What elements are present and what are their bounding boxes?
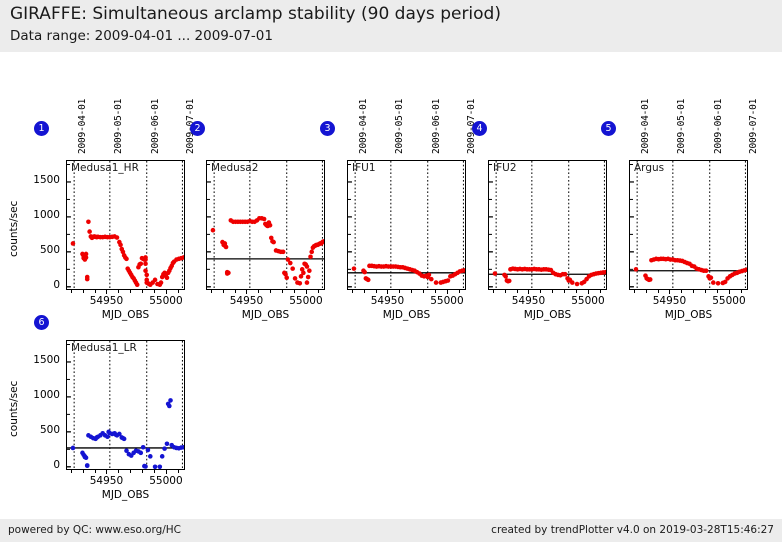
- plot-panel-4[interactable]: [488, 160, 607, 290]
- x-axis-label: MJD_OBS: [488, 309, 607, 321]
- date-tick-label: 2009-04-01: [358, 99, 369, 154]
- y-tick-label: 1000: [18, 209, 60, 221]
- x-axis-label: MJD_OBS: [66, 309, 185, 321]
- x-minor-tick: [223, 290, 224, 293]
- date-tick-label: 2009-06-01: [713, 99, 724, 154]
- x-minor-tick: [95, 470, 96, 473]
- x-minor-tick: [142, 290, 143, 293]
- x-tick-label: 54950: [506, 295, 550, 307]
- x-minor-tick: [505, 290, 506, 293]
- panel-title-1: Medusa1_HR: [71, 162, 139, 174]
- y-tick-label: 0: [18, 279, 60, 291]
- panel-title-6: Medusa1_LR: [71, 342, 137, 354]
- x-minor-tick: [528, 290, 529, 293]
- x-minor-tick: [246, 290, 247, 293]
- y-axis-label: counts/sec: [8, 381, 20, 437]
- date-tick-label: 2009-06-01: [150, 99, 161, 154]
- x-tick-label: 54950: [84, 475, 128, 487]
- page-subtitle: Data range: 2009-04-01 ... 2009-07-01: [10, 28, 273, 44]
- date-tick-label: 2009-04-01: [640, 99, 651, 154]
- x-tick-label: 54950: [647, 295, 691, 307]
- date-tick-label: 2009-05-01: [676, 99, 687, 154]
- x-axis-label: MJD_OBS: [347, 309, 466, 321]
- x-minor-tick: [294, 290, 295, 293]
- panel-badge-5: 5: [601, 121, 616, 136]
- x-minor-tick: [130, 290, 131, 293]
- footer-bar: powered by QC: www.eso.org/HC created by…: [0, 519, 782, 542]
- x-minor-tick: [493, 290, 494, 293]
- x-minor-tick: [106, 290, 107, 293]
- x-minor-tick: [540, 290, 541, 293]
- x-tick-label: 55000: [284, 295, 328, 307]
- x-tick-label: 55000: [144, 295, 188, 307]
- x-minor-tick: [178, 470, 179, 473]
- y-tick-label: 500: [18, 424, 60, 436]
- x-minor-tick: [600, 290, 601, 293]
- x-minor-tick: [552, 290, 553, 293]
- y-tick-label: 1000: [18, 389, 60, 401]
- x-minor-tick: [435, 290, 436, 293]
- y-tick-label: 1500: [18, 174, 60, 186]
- x-minor-tick: [658, 290, 659, 293]
- x-minor-tick: [681, 290, 682, 293]
- x-minor-tick: [564, 290, 565, 293]
- x-minor-tick: [166, 470, 167, 473]
- x-tick-label: 55000: [425, 295, 469, 307]
- date-tick-label: 2009-05-01: [394, 99, 405, 154]
- x-tick-label: 55000: [707, 295, 751, 307]
- x-tick-label: 55000: [566, 295, 610, 307]
- panel-title-3: IFU1: [352, 162, 376, 174]
- panel-badge-2: 2: [190, 121, 205, 136]
- x-minor-tick: [106, 470, 107, 473]
- panel-title-2: Medusa2: [211, 162, 258, 174]
- x-axis-label: MJD_OBS: [206, 309, 325, 321]
- panel-badge-4: 4: [472, 121, 487, 136]
- x-minor-tick: [387, 290, 388, 293]
- x-minor-tick: [142, 470, 143, 473]
- x-tick-label: 54950: [365, 295, 409, 307]
- panel-badge-6: 6: [34, 315, 49, 330]
- x-minor-tick: [411, 290, 412, 293]
- x-minor-tick: [741, 290, 742, 293]
- x-tick-label: 54950: [84, 295, 128, 307]
- plot-panel-5[interactable]: [629, 160, 748, 290]
- x-minor-tick: [118, 470, 119, 473]
- x-minor-tick: [83, 470, 84, 473]
- footer-credit-left: powered by QC: www.eso.org/HC: [8, 524, 181, 536]
- y-tick-label: 1500: [18, 354, 60, 366]
- x-minor-tick: [270, 290, 271, 293]
- x-minor-tick: [130, 470, 131, 473]
- x-axis-label: MJD_OBS: [66, 489, 185, 501]
- x-axis-label: MJD_OBS: [629, 309, 748, 321]
- x-minor-tick: [154, 290, 155, 293]
- y-tick-label: 500: [18, 244, 60, 256]
- x-minor-tick: [166, 290, 167, 293]
- plot-panel-1[interactable]: [66, 160, 185, 290]
- plot-panel-2[interactable]: [206, 160, 325, 290]
- x-minor-tick: [634, 290, 635, 293]
- date-tick-label: 2009-05-01: [113, 99, 124, 154]
- x-minor-tick: [318, 290, 319, 293]
- x-minor-tick: [154, 470, 155, 473]
- x-minor-tick: [705, 290, 706, 293]
- x-minor-tick: [71, 470, 72, 473]
- x-minor-tick: [83, 290, 84, 293]
- x-minor-tick: [447, 290, 448, 293]
- x-minor-tick: [423, 290, 424, 293]
- y-tick-label: 0: [18, 459, 60, 471]
- x-minor-tick: [729, 290, 730, 293]
- x-minor-tick: [118, 290, 119, 293]
- x-minor-tick: [364, 290, 365, 293]
- plot-panel-6[interactable]: [66, 340, 185, 470]
- panel-title-5: Argus: [634, 162, 664, 174]
- x-tick-label: 55000: [144, 475, 188, 487]
- y-axis-label: counts/sec: [8, 201, 20, 257]
- x-minor-tick: [576, 290, 577, 293]
- x-minor-tick: [646, 290, 647, 293]
- x-minor-tick: [306, 290, 307, 293]
- x-minor-tick: [669, 290, 670, 293]
- x-minor-tick: [693, 290, 694, 293]
- x-minor-tick: [459, 290, 460, 293]
- date-tick-label: 2009-07-01: [748, 99, 759, 154]
- x-minor-tick: [717, 290, 718, 293]
- x-minor-tick: [235, 290, 236, 293]
- panel-title-4: IFU2: [493, 162, 517, 174]
- page-title: GIRAFFE: Simultaneous arclamp stability …: [10, 4, 501, 24]
- header-bar: GIRAFFE: Simultaneous arclamp stability …: [0, 0, 782, 52]
- x-minor-tick: [352, 290, 353, 293]
- x-minor-tick: [211, 290, 212, 293]
- date-tick-label: 2009-06-01: [431, 99, 442, 154]
- x-minor-tick: [178, 290, 179, 293]
- panel-badge-1: 1: [34, 121, 49, 136]
- x-minor-tick: [258, 290, 259, 293]
- date-tick-label: 2009-04-01: [77, 99, 88, 154]
- x-minor-tick: [71, 290, 72, 293]
- x-minor-tick: [399, 290, 400, 293]
- x-minor-tick: [517, 290, 518, 293]
- x-minor-tick: [376, 290, 377, 293]
- x-minor-tick: [588, 290, 589, 293]
- x-tick-label: 54950: [224, 295, 268, 307]
- plot-panel-3[interactable]: [347, 160, 466, 290]
- panel-badge-3: 3: [320, 121, 335, 136]
- x-minor-tick: [282, 290, 283, 293]
- footer-credit-right: created by trendPlotter v4.0 on 2019-03-…: [491, 524, 774, 536]
- x-minor-tick: [95, 290, 96, 293]
